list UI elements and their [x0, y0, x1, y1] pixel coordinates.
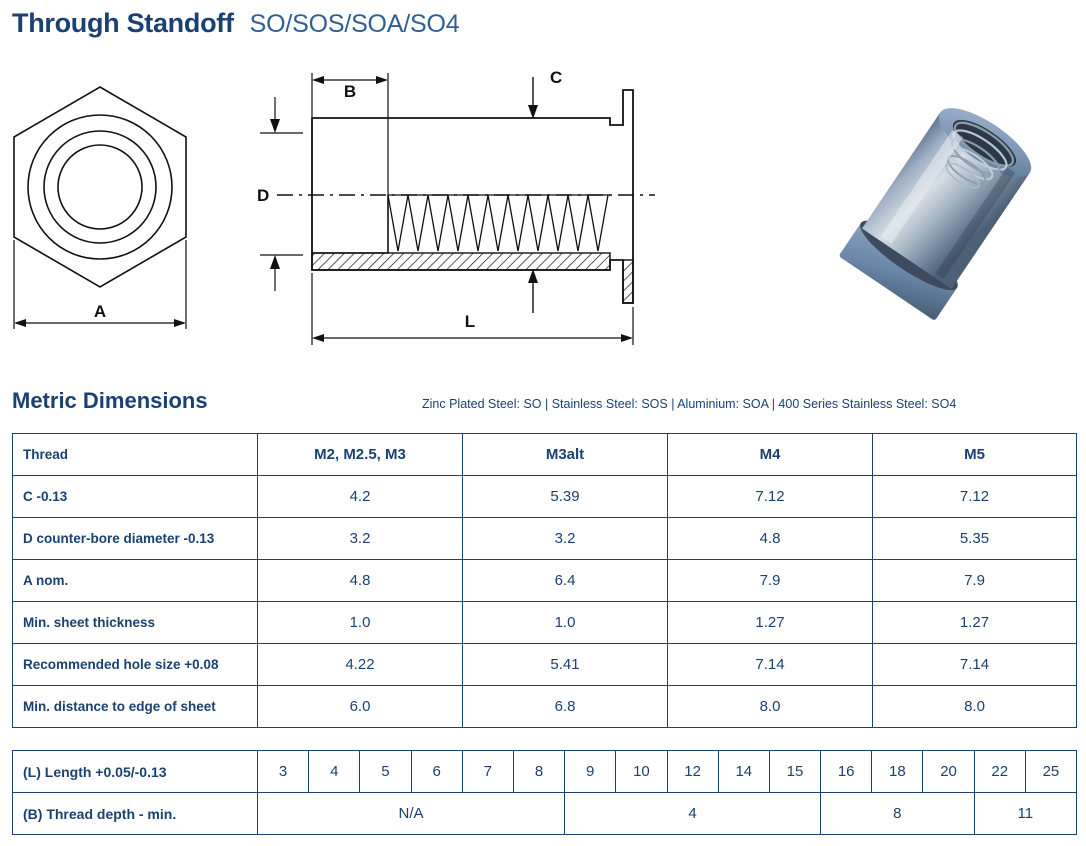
table-row: D counter-bore diameter -0.13 3.2 3.2 4.… [13, 518, 1077, 560]
arrow-c [528, 105, 538, 119]
row-label-min-distance-edge: Min. distance to edge of sheet [13, 686, 258, 728]
row-label-a-nom: A nom. [13, 560, 258, 602]
column-header-m5: M5 [873, 434, 1077, 476]
outer-circle [28, 115, 172, 259]
length-cell: 16 [821, 751, 872, 793]
length-cell: 10 [616, 751, 667, 793]
counter-bore-step [312, 195, 388, 253]
cell-value: 8.0 [668, 686, 873, 728]
cell-value: 3.2 [258, 518, 463, 560]
cell-value: 4.8 [258, 560, 463, 602]
length-cell: 6 [411, 751, 462, 793]
thread-depth-row: (B) Thread depth - min. N/A4811 [13, 793, 1077, 835]
length-thread-depth-table: (L) Length +0.05/-0.13 34567891012141516… [12, 750, 1077, 835]
thread-depth-cell: 8 [821, 793, 975, 835]
dimension-label-a: A [94, 302, 106, 321]
row-label-min-sheet-thickness: Min. sheet thickness [13, 602, 258, 644]
column-header-thread: Thread [13, 434, 258, 476]
length-cell: 22 [974, 751, 1025, 793]
column-header-m3alt: M3alt [463, 434, 668, 476]
hexagon-outline [14, 87, 186, 287]
length-cell: 20 [923, 751, 974, 793]
cell-value: 5.35 [873, 518, 1077, 560]
row-label-recommended-hole-size: Recommended hole size +0.08 [13, 644, 258, 686]
arrow-left-b [312, 76, 324, 84]
technical-drawings: A [0, 55, 1086, 375]
thread-profile [388, 195, 610, 251]
row-label-length: (L) Length +0.05/-0.13 [13, 751, 258, 793]
length-cell: 3 [258, 751, 309, 793]
arrow-left-a [14, 319, 26, 327]
length-cell: 8 [513, 751, 564, 793]
arrow-l-up [528, 269, 538, 283]
arrow-d-top [270, 119, 280, 133]
cell-value: 3.2 [463, 518, 668, 560]
length-cell: 15 [769, 751, 820, 793]
page-title: Through Standoff [12, 8, 234, 39]
row-label-d-counterbore: D counter-bore diameter -0.13 [13, 518, 258, 560]
cell-value: 6.4 [463, 560, 668, 602]
wall-hatching [312, 253, 633, 303]
material-legend: Zinc Plated Steel: SO | Stainless Steel:… [422, 397, 956, 411]
length-cell: 12 [667, 751, 718, 793]
table-row: Min. sheet thickness 1.0 1.0 1.27 1.27 [13, 602, 1077, 644]
arrow-right-b [376, 76, 388, 84]
arrow-right-a [174, 319, 186, 327]
dimension-label-c: C [550, 68, 562, 87]
dimension-l [312, 273, 633, 345]
table-row: C -0.13 4.2 5.39 7.12 7.12 [13, 476, 1077, 518]
cell-value: 1.0 [463, 602, 668, 644]
length-cell: 9 [565, 751, 616, 793]
thread-depth-cell: 4 [565, 793, 821, 835]
cross-section-view: B C D L [255, 55, 675, 355]
arrow-right-l [621, 334, 633, 342]
cell-value: 1.27 [668, 602, 873, 644]
section-title: Metric Dimensions [12, 388, 208, 414]
cell-value: 7.9 [873, 560, 1077, 602]
cell-value: 6.8 [463, 686, 668, 728]
cell-value: 7.9 [668, 560, 873, 602]
cell-value: 7.12 [668, 476, 873, 518]
standoff-photograph [790, 65, 1080, 365]
metric-dimensions-table: Thread M2, M2.5, M3 M3alt M4 M5 C -0.13 … [12, 433, 1077, 728]
standoff-body-outline [312, 90, 633, 303]
hexagon-end-view: A [0, 55, 255, 355]
length-cell: 18 [872, 751, 923, 793]
standoff-3d-body [839, 94, 1045, 321]
table-row: Min. distance to edge of sheet 6.0 6.8 8… [13, 686, 1077, 728]
arrow-left-l [312, 334, 324, 342]
page-header: Through Standoff SO/SOS/SOA/SO4 [12, 8, 459, 39]
cell-value: 4.22 [258, 644, 463, 686]
length-cell: 14 [718, 751, 769, 793]
middle-circle [44, 131, 156, 243]
table-row: Recommended hole size +0.08 4.22 5.41 7.… [13, 644, 1077, 686]
length-row: (L) Length +0.05/-0.13 34567891012141516… [13, 751, 1077, 793]
cell-value: 5.41 [463, 644, 668, 686]
row-label-thread-depth: (B) Thread depth - min. [13, 793, 258, 835]
table-header-row: Thread M2, M2.5, M3 M3alt M4 M5 [13, 434, 1077, 476]
column-header-m4: M4 [668, 434, 873, 476]
thread-depth-cell: 11 [974, 793, 1076, 835]
length-cell: 5 [360, 751, 411, 793]
column-header-m2-m25-m3: M2, M2.5, M3 [258, 434, 463, 476]
cell-value: 7.12 [873, 476, 1077, 518]
cell-value: 5.39 [463, 476, 668, 518]
cell-value: 7.14 [873, 644, 1077, 686]
cell-value: 7.14 [668, 644, 873, 686]
dimension-label-b: B [344, 82, 356, 101]
length-cell: 4 [309, 751, 360, 793]
table-row: A nom. 4.8 6.4 7.9 7.9 [13, 560, 1077, 602]
cell-value: 4.8 [668, 518, 873, 560]
inner-circle [58, 145, 142, 229]
row-label-c: C -0.13 [13, 476, 258, 518]
cell-value: 1.0 [258, 602, 463, 644]
cell-value: 1.27 [873, 602, 1077, 644]
thread-depth-cell: N/A [258, 793, 565, 835]
metric-dimensions-heading: Metric Dimensions Zinc Plated Steel: SO … [0, 388, 1086, 426]
dimension-label-d: D [257, 186, 269, 205]
length-cell: 7 [462, 751, 513, 793]
product-codes: SO/SOS/SOA/SO4 [250, 10, 460, 39]
cell-value: 8.0 [873, 686, 1077, 728]
arrow-d-bottom [270, 255, 280, 269]
cell-value: 4.2 [258, 476, 463, 518]
length-cell: 25 [1025, 751, 1076, 793]
cell-value: 6.0 [258, 686, 463, 728]
dimension-label-l: L [465, 312, 475, 331]
